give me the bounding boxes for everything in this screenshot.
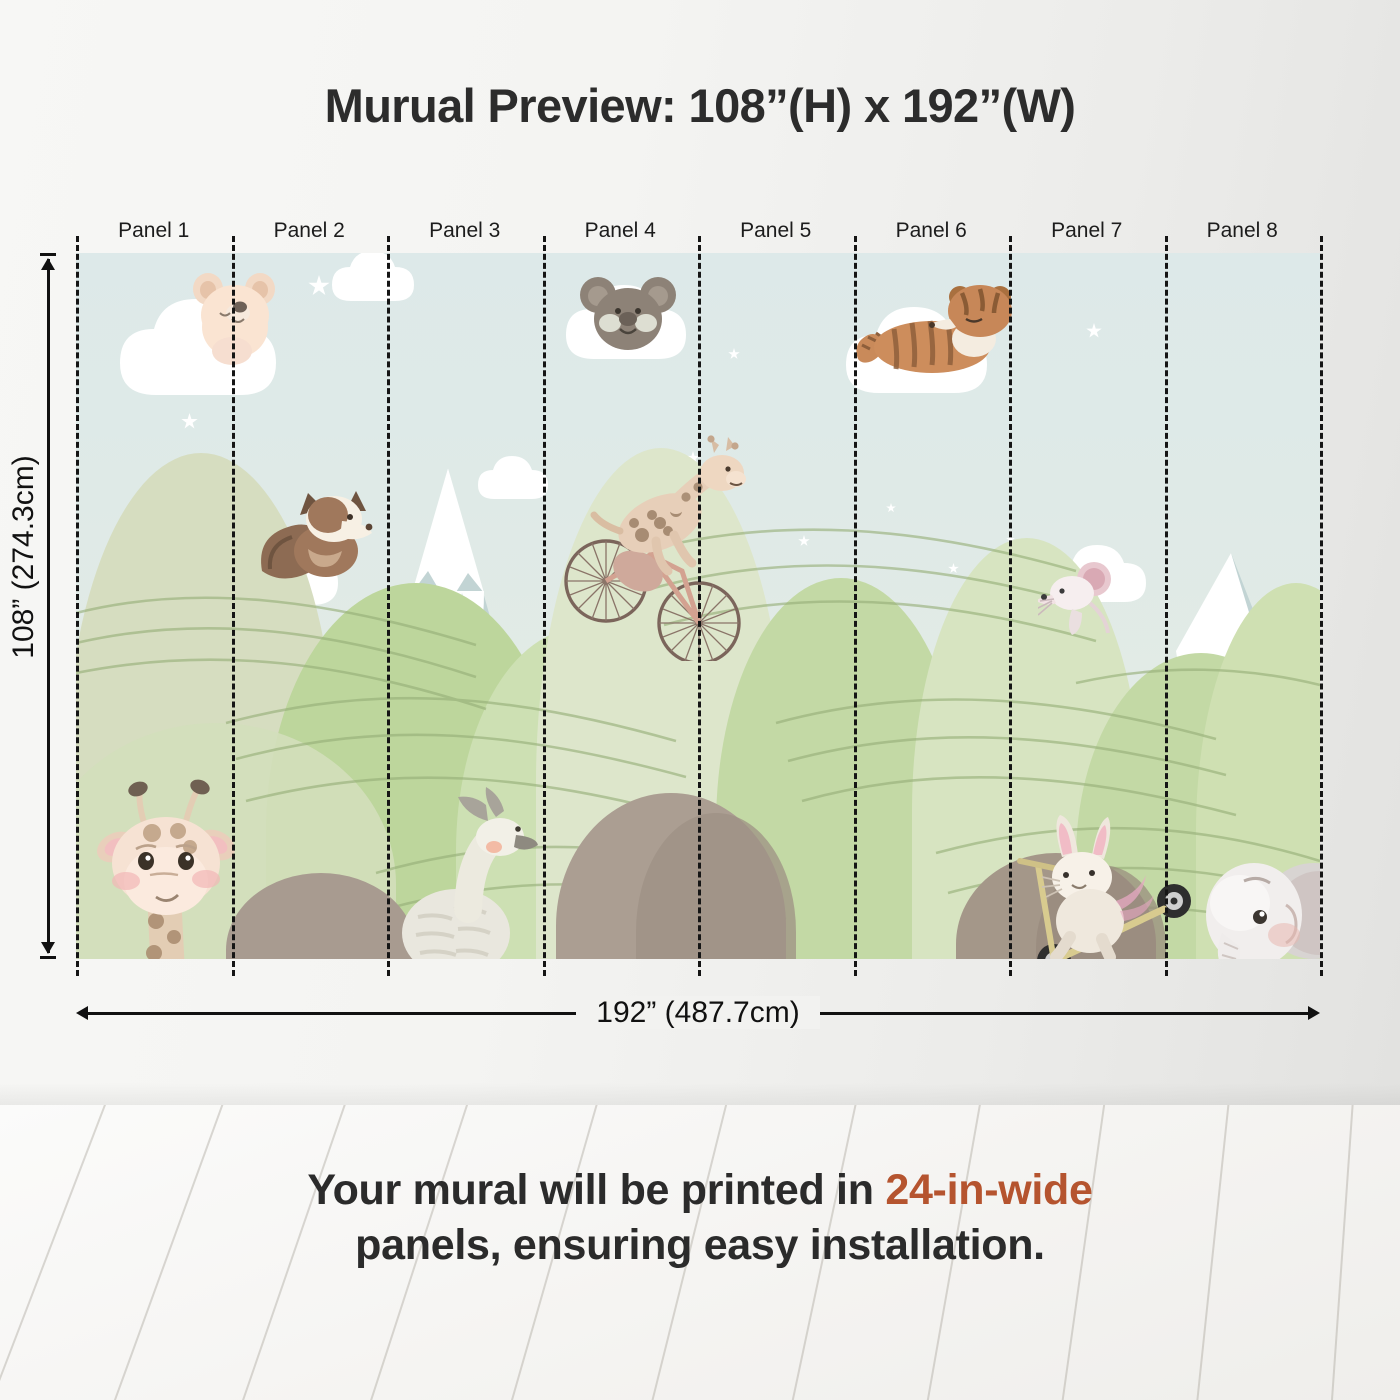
animal-mouse xyxy=(1038,557,1128,647)
panel-label-1: Panel 1 xyxy=(76,214,232,248)
panel-label-3: Panel 3 xyxy=(387,214,543,248)
wall-background: Murual Preview: 108”(H) x 192”(W) Panel … xyxy=(0,0,1400,1105)
animal-fox-on-cloud xyxy=(254,471,384,601)
width-dimension-label: 192” (487.7cm) xyxy=(76,996,1320,1030)
animal-bear-on-cloud xyxy=(180,265,290,375)
panel-seam-5 xyxy=(854,236,857,976)
panel-seam-0 xyxy=(76,236,79,976)
animal-rabbit-on-scooter xyxy=(1016,813,1216,959)
footer-caption: Your mural will be printed in 24-in-wide… xyxy=(0,1163,1400,1273)
width-dimension-text: 192” (487.7cm) xyxy=(576,996,819,1029)
panel-seam-8 xyxy=(1320,236,1323,976)
animal-giraffe-head xyxy=(94,771,254,959)
panel-label-2: Panel 2 xyxy=(232,214,388,248)
panel-label-4: Panel 4 xyxy=(543,214,699,248)
footer-caption-line1-prefix: Your mural will be printed in xyxy=(307,1166,885,1214)
footer-caption-line1: Your mural will be printed in 24-in-wide xyxy=(0,1163,1400,1218)
height-dimension-line xyxy=(40,253,56,959)
footer-caption-line2: panels, ensuring easy installation. xyxy=(0,1218,1400,1273)
panel-seam-2 xyxy=(387,236,390,976)
height-dimension-label: 108” (274.3cm) xyxy=(7,237,41,877)
panel-label-8: Panel 8 xyxy=(1165,214,1321,248)
animal-koala-on-cloud xyxy=(574,267,684,367)
page-title: Murual Preview: 108”(H) x 192”(W) xyxy=(0,78,1400,133)
panel-seam-1 xyxy=(232,236,235,976)
panel-label-5: Panel 5 xyxy=(698,214,854,248)
panel-seam-4 xyxy=(698,236,701,976)
panel-label-6: Panel 6 xyxy=(854,214,1010,248)
animal-elephant xyxy=(1196,839,1320,959)
animal-tiger-on-cloud xyxy=(854,275,1024,385)
panel-label-7: Panel 7 xyxy=(1009,214,1165,248)
floor-background: Your mural will be printed in 24-in-wide… xyxy=(0,1105,1400,1400)
footer-caption-highlight: 24-in-wide xyxy=(885,1166,1092,1214)
animal-giraffe-on-bicycle xyxy=(564,431,764,661)
animal-llama xyxy=(394,783,554,959)
width-dimension-line: 192” (487.7cm) xyxy=(76,1004,1320,1022)
panel-seam-3 xyxy=(543,236,546,976)
panel-seam-6 xyxy=(1009,236,1012,976)
panel-seam-7 xyxy=(1165,236,1168,976)
